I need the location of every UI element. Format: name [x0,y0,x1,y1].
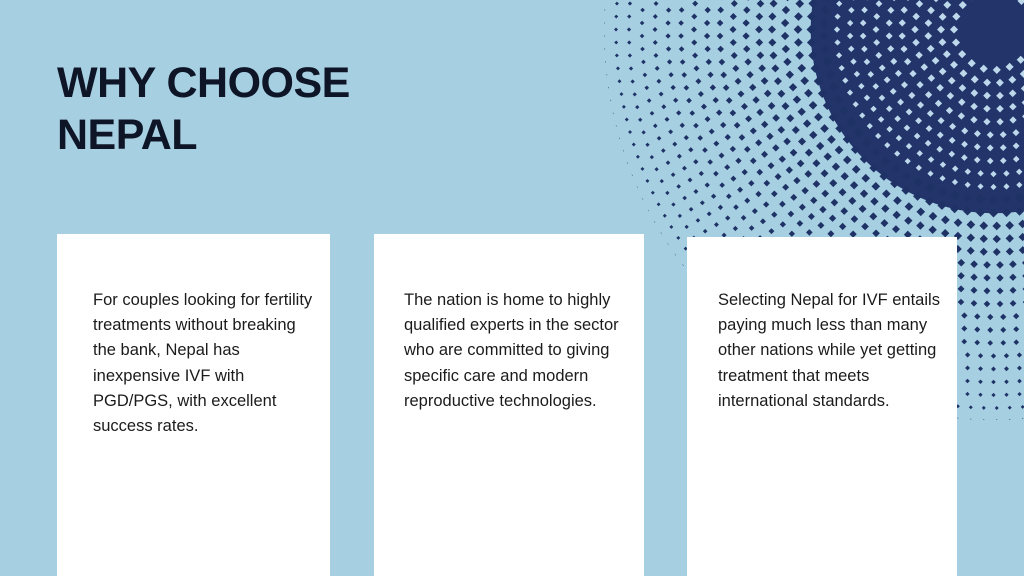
info-card-3: Selecting Nepal for IVF entails paying m… [687,237,957,576]
slide-canvas: Why Choose Nepal For couples looking for… [0,0,1024,576]
info-card-2: The nation is home to highly qualified e… [374,234,644,576]
page-title: Why Choose Nepal [57,57,577,161]
info-card-1-text: For couples looking for fertility treatm… [93,288,318,439]
info-card-2-text: The nation is home to highly qualified e… [404,288,624,414]
info-card-1: For couples looking for fertility treatm… [57,234,330,576]
info-card-3-text: Selecting Nepal for IVF entails paying m… [718,288,946,414]
